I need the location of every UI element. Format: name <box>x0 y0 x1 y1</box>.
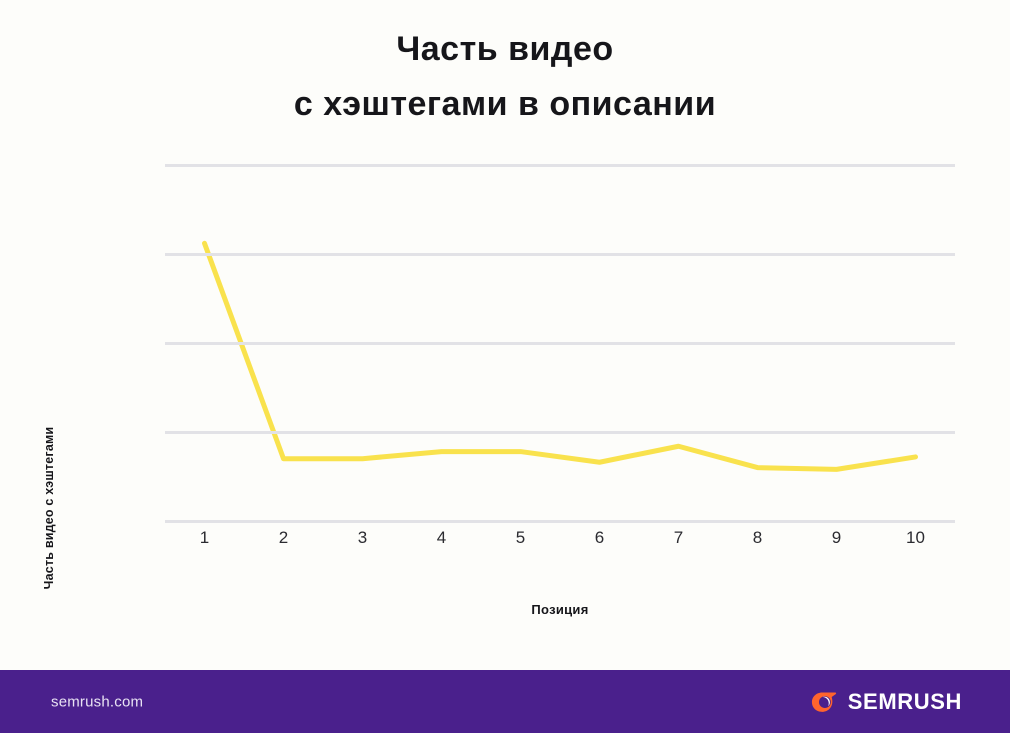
x-axis-tick-label: 4 <box>412 528 472 548</box>
series-line <box>205 243 916 469</box>
gridline <box>165 164 955 167</box>
chart-page: Часть видео с хэштегами в описании Часть… <box>0 0 1010 733</box>
gridline <box>165 342 955 345</box>
x-axis-tick-label: 7 <box>649 528 709 548</box>
x-axis-tick-label: 6 <box>570 528 630 548</box>
semrush-wordmark: SEMRUSH <box>848 689 962 715</box>
gridline <box>165 431 955 434</box>
chart-container: Часть видео с хэштегами 20%25%30%35%40% … <box>0 130 1010 670</box>
semrush-comet-icon <box>810 689 839 715</box>
x-axis-title: Позиция <box>165 602 955 617</box>
x-axis-tick-label: 10 <box>886 528 946 548</box>
page-title-line-2: с хэштегами в описании <box>0 77 1010 132</box>
x-axis-tick-label: 5 <box>491 528 551 548</box>
x-axis-tick-label: 2 <box>254 528 314 548</box>
x-axis-tick-label: 3 <box>333 528 393 548</box>
page-title: Часть видео с хэштегами в описании <box>0 22 1010 132</box>
gridline <box>165 520 955 523</box>
plot-area <box>165 165 955 521</box>
x-axis-tick-label: 8 <box>728 528 788 548</box>
x-axis-tick-label: 9 <box>807 528 867 548</box>
footer-url[interactable]: semrush.com <box>51 693 143 710</box>
footer-bar: semrush.com SEMRUSH <box>0 670 1010 733</box>
x-axis-tick-label: 1 <box>175 528 235 548</box>
semrush-logo[interactable]: SEMRUSH <box>810 689 962 715</box>
page-title-line-1: Часть видео <box>0 22 1010 77</box>
gridline <box>165 253 955 256</box>
